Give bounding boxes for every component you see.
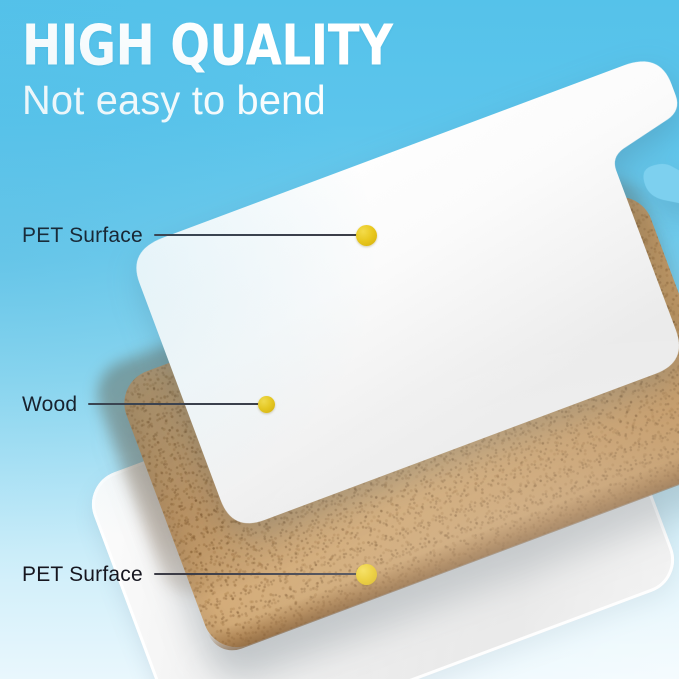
leader-line-pet-bottom xyxy=(154,573,359,575)
callout-wood: Wood xyxy=(22,393,275,415)
infographic-canvas: HIGH QUALITY Not easy to bend xyxy=(0,0,679,679)
callout-group: PET Surface Wood PET Surface xyxy=(0,0,679,679)
leader-line-wood xyxy=(88,403,261,405)
callout-label-pet-surface-top: PET Surface xyxy=(22,225,143,246)
callout-pet-surface-bottom: PET Surface xyxy=(22,563,377,585)
marker-dot-pet-bottom xyxy=(356,564,377,585)
callout-label-pet-surface-bottom: PET Surface xyxy=(22,564,143,585)
marker-dot-pet-top xyxy=(356,225,377,246)
marker-dot-wood xyxy=(258,396,275,413)
callout-pet-surface-top: PET Surface xyxy=(22,224,377,246)
callout-label-wood: Wood xyxy=(22,394,77,415)
leader-line-pet-top xyxy=(154,234,359,236)
